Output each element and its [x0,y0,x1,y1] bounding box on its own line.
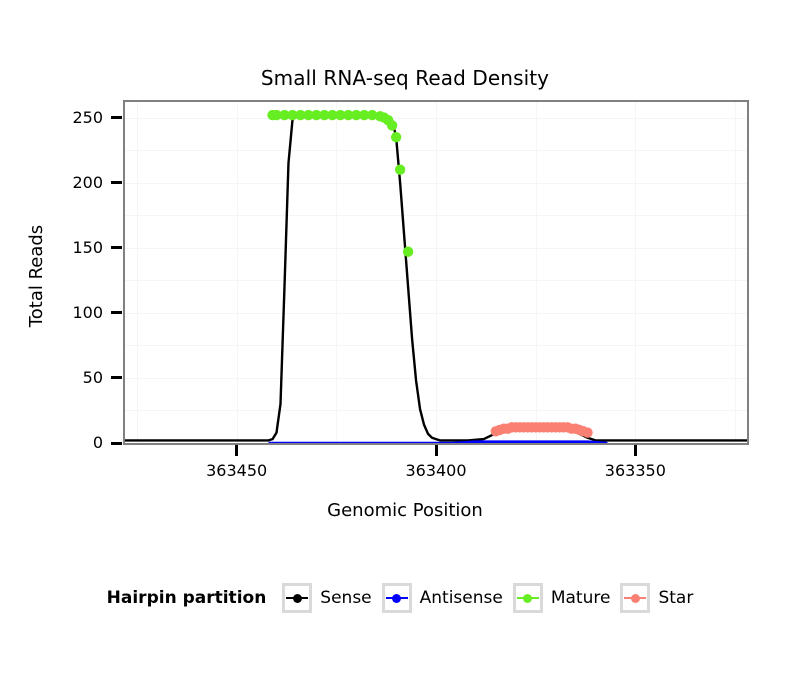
legend-label: Sense [320,588,371,608]
y-tick-mark [111,311,122,314]
y-axis-title: Total Reads [26,186,50,366]
legend-item-sense[interactable]: Sense [282,583,371,613]
legend-key-dot [631,594,640,603]
plot-area [125,102,747,443]
legend-label: Mature [551,588,611,608]
legend-items: SenseAntisenseMatureStar [282,583,703,613]
x-tick-mark [634,445,637,456]
data-point [403,246,413,256]
legend: Hairpin partition SenseAntisenseMatureSt… [0,583,810,613]
y-tick-mark [111,246,122,249]
y-tick-label: 150 [57,238,103,257]
legend-title: Hairpin partition [107,588,267,608]
legend-key-antisense-icon [382,583,412,613]
y-tick-mark [111,442,122,445]
series-line-sense [125,115,747,440]
plot-panel [123,100,749,445]
y-tick-label: 250 [57,108,103,127]
legend-key-dot [293,594,302,603]
data-point [387,120,397,130]
legend-key-star-icon [620,583,650,613]
y-tick-label: 100 [57,303,103,322]
legend-item-antisense[interactable]: Antisense [382,583,503,613]
series-points-mature [267,110,413,257]
chart-root: Small RNA-seq Read Density Total Reads 0… [0,0,810,690]
series-points-star [491,422,593,438]
page-title: Small RNA-seq Read Density [0,66,810,90]
y-tick-label: 50 [57,368,103,387]
y-tick-mark [111,181,122,184]
plot-series-svg [125,102,747,443]
y-tick-label: 200 [57,173,103,192]
legend-label: Star [658,588,693,608]
y-tick-mark [111,376,122,379]
legend-key-sense-icon [282,583,312,613]
x-tick-label: 363400 [381,461,491,480]
y-tick-label: 0 [57,433,103,452]
legend-key-mature-icon [513,583,543,613]
data-point [391,132,401,142]
legend-item-star[interactable]: Star [620,583,693,613]
x-axis-title: Genomic Position [0,500,810,521]
series-line-antisense [269,442,608,443]
data-point [582,427,592,437]
data-point [395,164,405,174]
x-tick-label: 363350 [580,461,690,480]
legend-item-mature[interactable]: Mature [513,583,611,613]
gridline-horizontal [125,443,747,444]
y-tick-mark [111,116,122,119]
legend-label: Antisense [420,588,503,608]
x-tick-label: 363450 [182,461,292,480]
legend-key-dot [523,594,532,603]
x-tick-mark [235,445,238,456]
x-tick-mark [435,445,438,456]
legend-key-dot [392,594,401,603]
